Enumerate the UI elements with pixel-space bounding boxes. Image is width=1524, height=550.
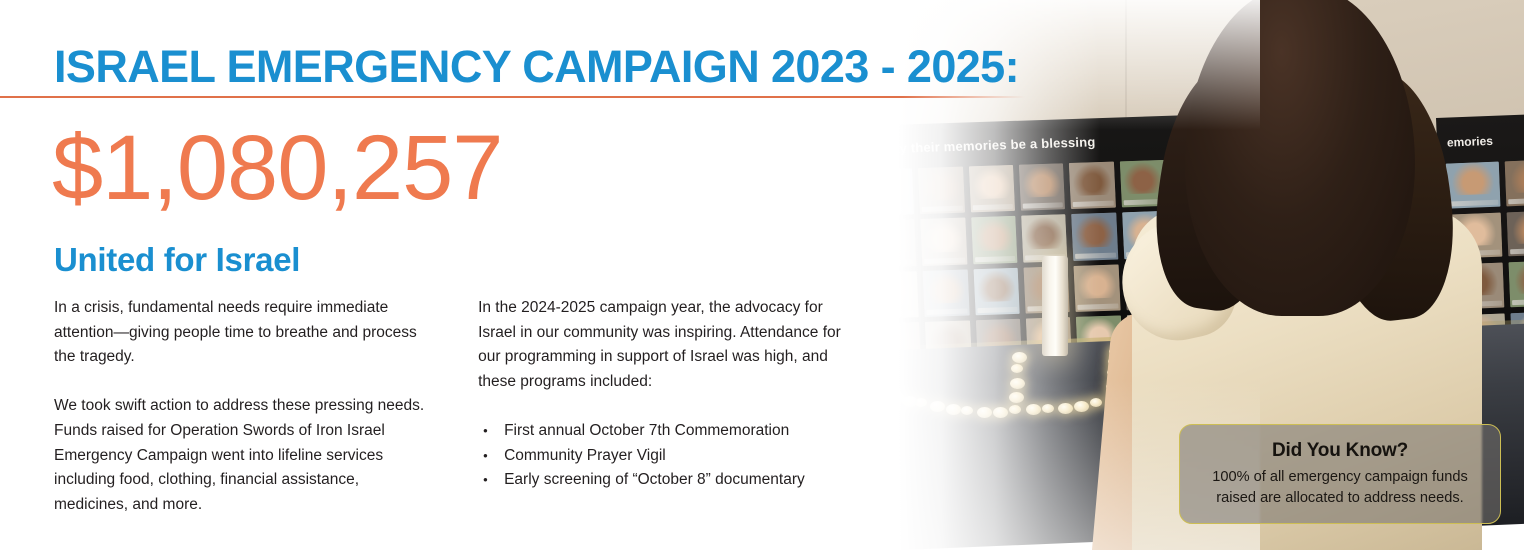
section-subheading: United for Israel <box>54 241 300 279</box>
callout-title: Did You Know? <box>1272 440 1408 462</box>
program-list-item: Community Prayer Vigil <box>478 444 854 469</box>
left-paragraph-1: In a crisis, fundamental needs require i… <box>54 296 426 370</box>
left-text-column: In a crisis, fundamental needs require i… <box>54 296 426 518</box>
callout-text: 100% of all emergency campaign funds rai… <box>1194 467 1486 509</box>
right-paragraph-1: In the 2024-2025 campaign year, the advo… <box>478 296 854 395</box>
program-list-item: First annual October 7th Commemoration <box>478 419 854 444</box>
portrait-tile <box>1509 260 1524 307</box>
portrait-tile <box>1505 159 1524 206</box>
page-title: ISRAEL EMERGENCY CAMPAIGN 2023 - 2025: <box>54 41 1019 93</box>
campaign-total-amount: $1,080,257 <box>52 118 502 219</box>
infographic-page: May their memories be a blessing FIDF Fe… <box>0 0 1524 550</box>
banner-headline-secondary: emories <box>1447 134 1494 150</box>
left-paragraph-2: We took swift action to address these pr… <box>54 394 426 518</box>
body-columns: In a crisis, fundamental needs require i… <box>54 296 854 518</box>
title-divider <box>0 96 1025 98</box>
program-list: First annual October 7th CommemorationCo… <box>478 419 854 493</box>
right-text-column: In the 2024-2025 campaign year, the advo… <box>478 296 854 518</box>
portrait-tile <box>1446 162 1501 209</box>
program-list-item: Early screening of “October 8” documenta… <box>478 468 854 493</box>
did-you-know-callout: Did You Know? 100% of all emergency camp… <box>1179 424 1501 524</box>
portrait-tile <box>1507 210 1524 257</box>
